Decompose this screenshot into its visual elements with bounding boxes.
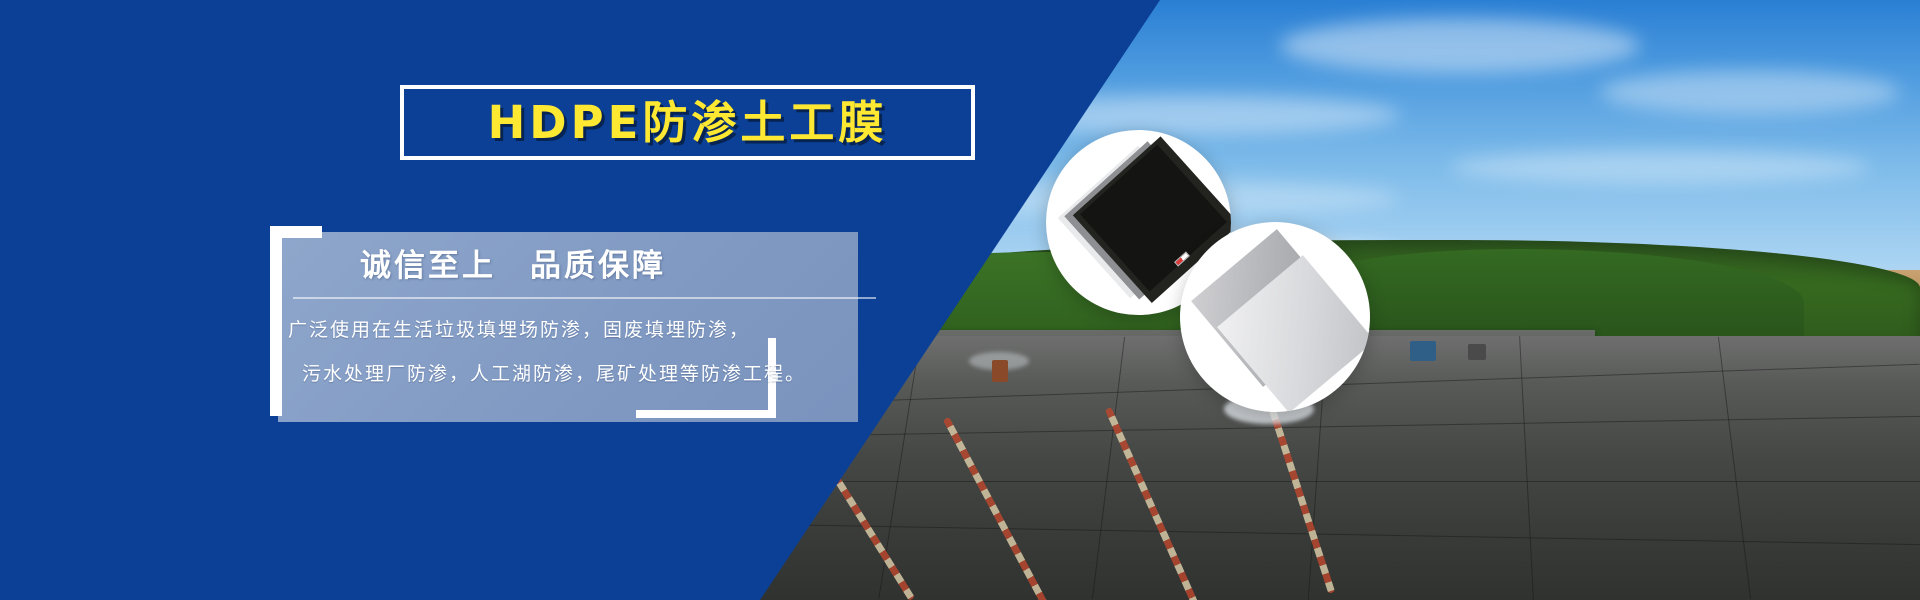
- corner-accent-left-bar: [270, 226, 282, 416]
- sandbag-row: [1267, 402, 1335, 594]
- liner-seam: [760, 416, 1920, 437]
- liner-seam: [760, 524, 1920, 545]
- description-line-1: 广泛使用在生活垃圾填埋场防渗，固废填埋防渗，: [288, 308, 908, 352]
- title-frame: HDPE防渗土工膜: [400, 85, 975, 160]
- product-inset-gray-sheets: [1180, 222, 1370, 412]
- corner-accent-bottom-right: [636, 410, 776, 418]
- liner-seam: [1519, 336, 1534, 600]
- sandbag-row: [1105, 407, 1205, 600]
- cloud: [1280, 18, 1640, 73]
- cloud: [1600, 70, 1900, 114]
- site-equipment: [1410, 341, 1436, 361]
- banner-description: 广泛使用在生活垃圾填埋场防渗，固废填埋防渗， 污水处理厂防渗，人工湖防渗，尾矿处…: [288, 308, 908, 396]
- banner-title: HDPE防渗土工膜: [488, 100, 888, 145]
- slogan-divider: [293, 297, 876, 299]
- banner-slogan: 诚信至上 品质保障: [360, 245, 880, 288]
- site-equipment: [992, 360, 1008, 382]
- liner-seam: [760, 481, 1920, 482]
- hdpe-geomembrane-banner: HDPE防渗土工膜 诚信至上 品质保障 广泛使用在生活垃圾填埋场防渗，固废填埋防…: [0, 0, 1920, 600]
- liner-seam: [1718, 337, 1751, 599]
- sandbag-row: [943, 417, 1050, 600]
- site-equipment: [1468, 344, 1486, 360]
- description-line-2: 污水处理厂防渗，人工湖防渗，尾矿处理等防渗工程。: [288, 352, 908, 396]
- cloud: [1450, 150, 1870, 184]
- liner-seam: [1092, 337, 1125, 599]
